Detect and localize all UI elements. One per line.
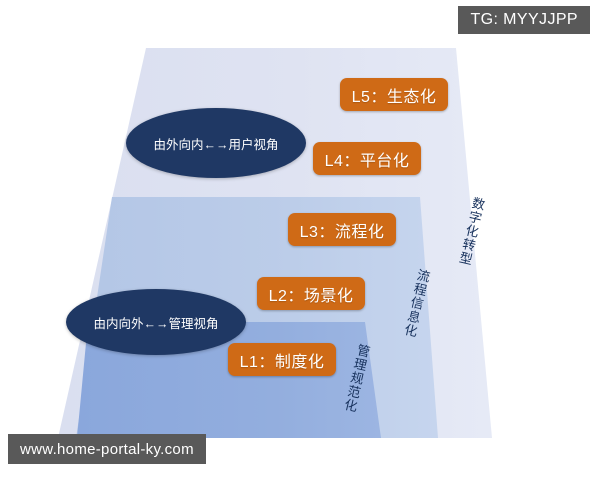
level-chip-l1: L1：制度化 <box>228 343 336 376</box>
level-chip-l4-label: L4：平台化 <box>325 147 410 171</box>
level-chip-l2-label: L2：场景化 <box>269 282 354 306</box>
level-chip-l2: L2：场景化 <box>257 277 365 310</box>
level-chip-l1-label: L1：制度化 <box>240 348 325 372</box>
perspective-ellipse-inner-out-label: 由内向外←→管理视角 <box>93 313 218 332</box>
perspective-ellipse-inner-out: 由内向外←→管理视角 <box>66 289 246 355</box>
level-chip-l3: L3：流程化 <box>288 213 396 246</box>
level-chip-l5: L5：生态化 <box>340 78 448 111</box>
diagram-canvas: 由外向内←→用户视角 由内向外←→管理视角 L5：生态化 L4：平台化 L3：流… <box>0 0 600 480</box>
level-chip-l4: L4：平台化 <box>313 142 421 175</box>
perspective-ellipse-outer-in: 由外向内←→用户视角 <box>126 108 306 178</box>
perspective-ellipse-outer-in-label: 由外向内←→用户视角 <box>153 134 278 153</box>
url-watermark-banner: www.home-portal-ky.com <box>8 434 206 464</box>
telegram-watermark-banner: TG: MYYJJPP <box>458 6 590 34</box>
level-chip-l5-label: L5：生态化 <box>352 83 437 107</box>
level-chip-l3-label: L3：流程化 <box>300 218 385 242</box>
